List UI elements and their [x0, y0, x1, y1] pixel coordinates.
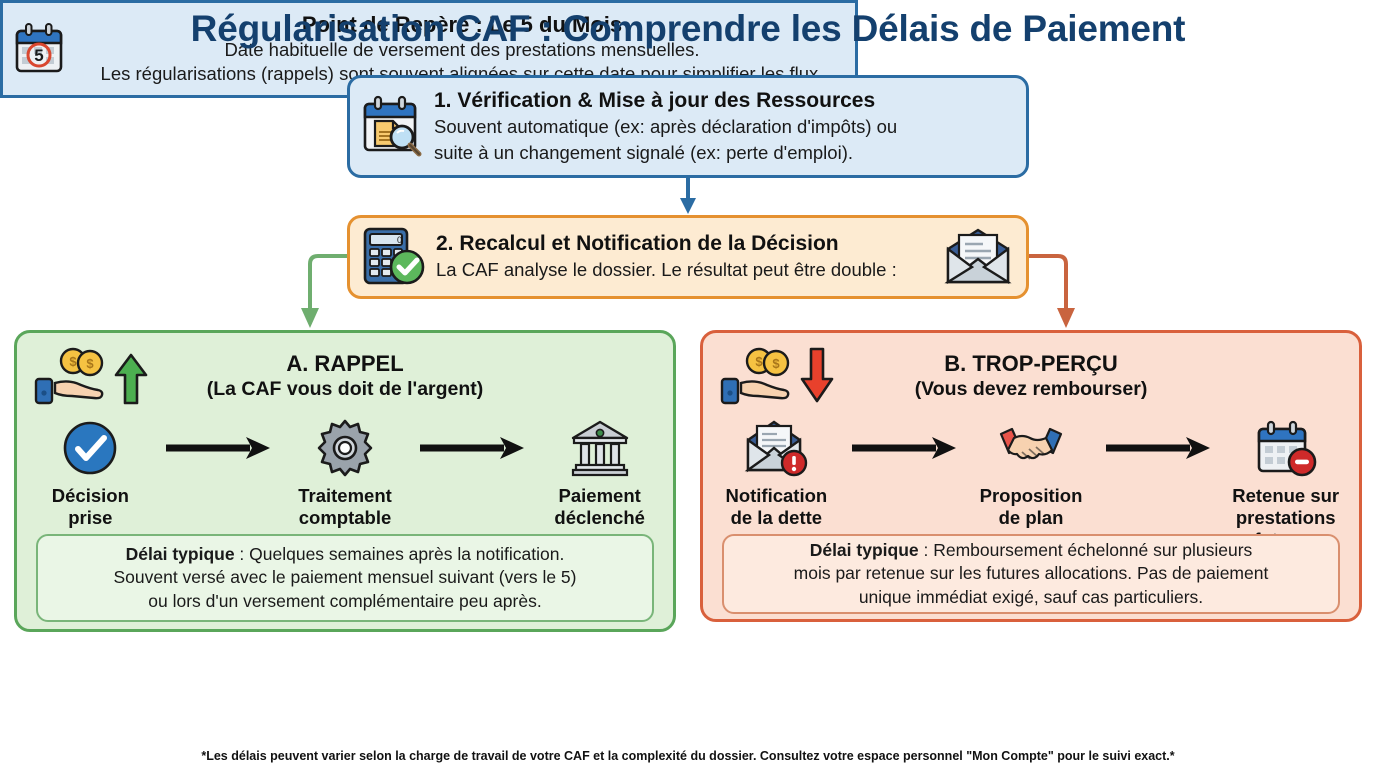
trop-percu-note-line1: Délai typique : Remboursement échelonné … — [794, 539, 1269, 562]
rappel-subtitle: (La CAF vous doit de l'argent) — [17, 378, 673, 402]
flow-step-notification-dette: Notification de la dette — [703, 417, 850, 529]
flow-step-decision-prise: Décision prise — [17, 417, 164, 529]
calendar-document-magnifier-icon — [350, 94, 434, 160]
step-2-sub-line1: La CAF analyse le dossier. Le résultat p… — [436, 258, 930, 282]
flow-step-paiement-declenche: Paiement déclenché — [526, 417, 673, 529]
flow-label-line1: Décision — [52, 485, 129, 507]
rappel-title: A. RAPPEL — [17, 351, 673, 378]
infographic-canvas: Régularisation CAF : Comprendre les Déla… — [0, 0, 1376, 768]
flow-arrow-icon — [164, 417, 272, 479]
flow-label-line2: de plan — [980, 507, 1083, 529]
svg-text:0: 0 — [397, 235, 402, 245]
flow-step-proposition-plan: Proposition de plan — [958, 417, 1105, 529]
step-1-heading: 1. Vérification & Mise à jour des Ressou… — [434, 89, 1014, 113]
flow-label: Décision prise — [52, 485, 129, 529]
flow-arrow-icon — [418, 417, 526, 479]
step-1-sub-line1: Souvent automatique (ex: après déclarati… — [434, 115, 1014, 139]
calculator-check-icon: 0 — [350, 226, 436, 288]
flow-label: Proposition de plan — [980, 485, 1083, 529]
open-envelope-icon — [930, 227, 1026, 287]
check-circle-icon — [61, 417, 119, 479]
rappel-delay-note: Délai typique : Quelques semaines après … — [36, 534, 654, 622]
flow-arrow-icon — [1104, 417, 1212, 479]
trop-percu-delay-note: Délai typique : Remboursement échelonné … — [722, 534, 1340, 614]
trop-percu-note-line1-text: : Remboursement échelonné sur plusieurs — [919, 540, 1253, 560]
flow-label-line1: Proposition — [980, 485, 1083, 507]
flow-step-traitement-comptable: Traitement comptable — [272, 417, 419, 529]
trop-percu-title-block: B. TROP-PERÇU (Vous devez rembourser) — [703, 351, 1359, 402]
flow-label-line2: de la dette — [725, 507, 827, 529]
step-2-box: 0 2. Recalcul et Notification de la Déci… — [347, 215, 1029, 299]
rappel-note-line1-text: : Quelques semaines après la notificatio… — [235, 544, 565, 564]
flow-label-line1: Notification — [725, 485, 827, 507]
flow-label-line2: prise — [52, 507, 129, 529]
flow-label-line1: Traitement — [298, 485, 392, 507]
step-1-sub-line2: suite à un changement signalé (ex: perte… — [434, 141, 1014, 165]
flow-label-line2: déclenché — [554, 507, 645, 529]
rappel-title-block: A. RAPPEL (La CAF vous doit de l'argent) — [17, 351, 673, 402]
rappel-flow: Décision prise — [17, 417, 673, 529]
trop-percu-subtitle: (Vous devez rembourser) — [703, 378, 1359, 402]
trop-percu-note-line2: mois par retenue sur les futures allocat… — [794, 562, 1269, 585]
trop-percu-note-line3: unique immédiat exigé, sauf cas particul… — [794, 586, 1269, 609]
flow-label: Notification de la dette — [725, 485, 827, 529]
gear-icon — [315, 417, 375, 479]
rappel-note-line1: Délai typique : Quelques semaines après … — [113, 543, 576, 566]
flow-step-retenue-prestations: Retenue sur prestations futures — [1212, 417, 1359, 552]
step-2-text: 2. Recalcul et Notification de la Décisi… — [436, 232, 930, 282]
flow-label-line1: Paiement — [554, 485, 645, 507]
bank-building-icon — [570, 417, 630, 479]
flow-label: Paiement déclenché — [554, 485, 645, 529]
footnote: *Les délais peuvent varier selon la char… — [0, 749, 1376, 763]
trop-percu-flow: Notification de la dette — [703, 417, 1359, 552]
calendar-minus-icon — [1254, 417, 1318, 479]
flow-label-line1: Retenue sur — [1212, 485, 1359, 507]
step-1-box: 1. Vérification & Mise à jour des Ressou… — [347, 75, 1029, 178]
flow-label: Traitement comptable — [298, 485, 392, 529]
flow-label-line2: comptable — [298, 507, 392, 529]
rappel-note-line3: ou lors d'un versement complémentaire pe… — [113, 590, 576, 613]
flow-arrow-icon — [850, 417, 958, 479]
step-1-text: 1. Vérification & Mise à jour des Ressou… — [434, 89, 1014, 164]
envelope-alert-icon — [743, 417, 809, 479]
trop-percu-note-label: Délai typique — [810, 540, 919, 560]
page-title: Régularisation CAF : Comprendre les Déla… — [0, 8, 1376, 50]
handshake-icon — [998, 417, 1064, 479]
rappel-note-label: Délai typique — [126, 544, 235, 564]
rappel-note-line2: Souvent versé avec le paiement mensuel s… — [113, 566, 576, 589]
step-2-heading: 2. Recalcul et Notification de la Décisi… — [436, 232, 930, 256]
trop-percu-title: B. TROP-PERÇU — [703, 351, 1359, 378]
